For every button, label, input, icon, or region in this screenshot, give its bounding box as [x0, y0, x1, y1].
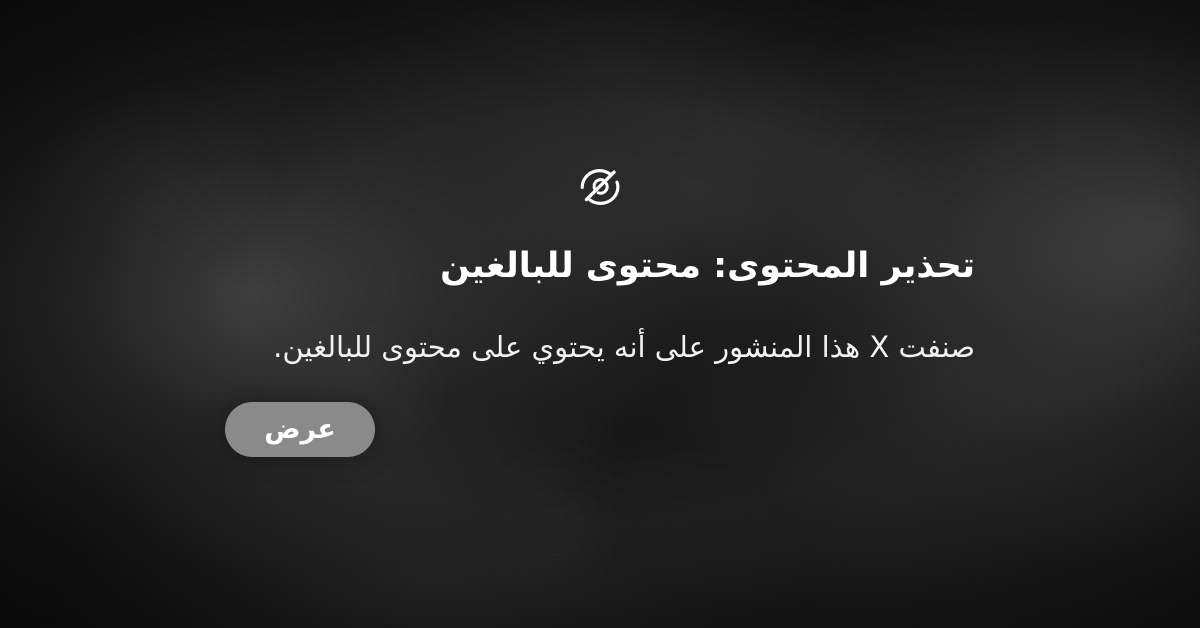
content-warning-screen: تحذير المحتوى: محتوى للبالغين صنفت X هذا… — [0, 0, 1200, 628]
content-warning-title: تحذير المحتوى: محتوى للبالغين — [225, 243, 975, 289]
content-warning-actions: عرض — [225, 402, 975, 457]
content-warning-description: صنفت X هذا المنشور على أنه يحتوي على محت… — [223, 327, 975, 367]
view-button[interactable]: عرض — [225, 402, 375, 457]
content-warning-overlay: تحذير المحتوى: محتوى للبالغين صنفت X هذا… — [0, 0, 1200, 628]
eye-off-icon — [576, 161, 624, 209]
